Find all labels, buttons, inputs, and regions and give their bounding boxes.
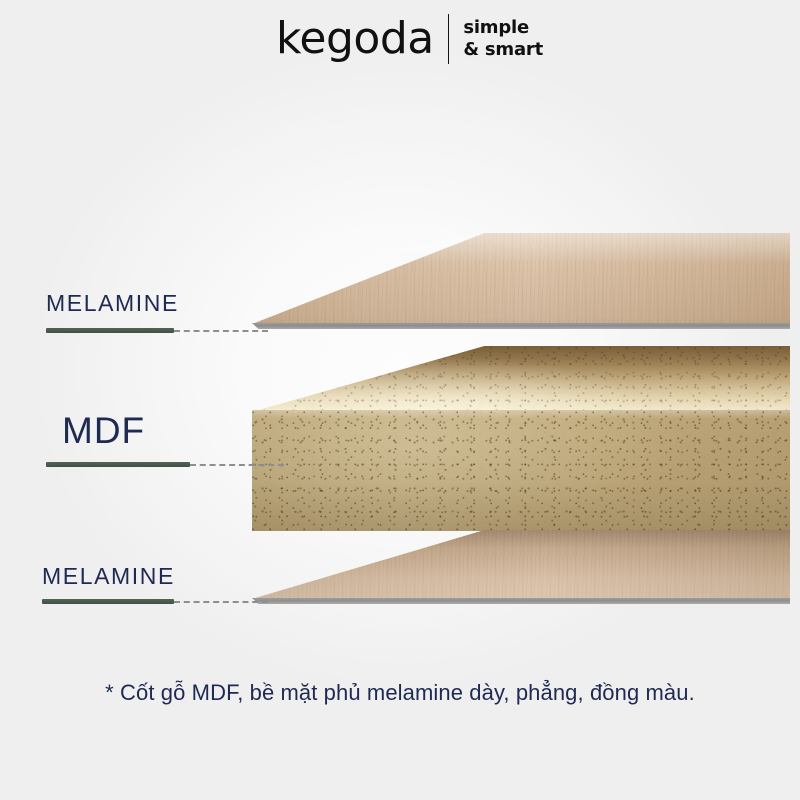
brand-logo: kegoda simple & smart — [276, 14, 543, 64]
layer-label-mdf-text: MDF — [62, 412, 145, 449]
melamine-bottom-edge — [252, 598, 790, 604]
leader-dashed-segment — [174, 330, 268, 332]
melamine-top-face — [252, 233, 790, 324]
leader-solid-segment — [46, 462, 190, 467]
leader-line-mdf — [46, 462, 284, 467]
melamine-top-panel — [252, 233, 790, 329]
mdf-core-top-face — [252, 346, 790, 412]
logo-divider-icon — [448, 14, 450, 64]
melamine-top-edge — [252, 323, 790, 329]
brand-tagline-line2: & smart — [463, 41, 543, 60]
mdf-core-panel — [252, 346, 790, 531]
layer-label-mdf: MDF — [62, 412, 145, 449]
brand-tagline: simple & smart — [463, 19, 543, 60]
layer-label-melamine-bottom-text: MELAMINE — [42, 565, 175, 588]
leader-solid-segment — [42, 599, 174, 604]
footnote-caption: * Cốt gỗ MDF, bề mặt phủ melamine dày, p… — [0, 680, 800, 706]
leader-dashed-segment — [190, 464, 284, 466]
melamine-bottom-panel — [252, 530, 790, 604]
leader-line-melamine-bottom — [42, 599, 268, 604]
leader-dashed-segment — [174, 601, 268, 603]
brand-name: kegoda — [276, 17, 434, 61]
mdf-top-texture — [252, 346, 790, 412]
mdf-core-front-face — [252, 410, 790, 531]
mdf-front-texture — [252, 410, 790, 531]
melamine-bottom-face — [252, 530, 790, 599]
leader-solid-segment — [46, 328, 174, 333]
layer-label-melamine-bottom: MELAMINE — [42, 565, 175, 588]
layer-label-melamine-top: MELAMINE — [46, 292, 179, 315]
product-infographic: kegoda simple & smart MELAMINE — [0, 0, 800, 800]
melamine-top-highlight — [252, 233, 790, 263]
brand-tagline-line1: simple — [463, 19, 543, 38]
layer-label-melamine-top-text: MELAMINE — [46, 292, 179, 315]
leader-line-melamine-top — [46, 328, 268, 333]
